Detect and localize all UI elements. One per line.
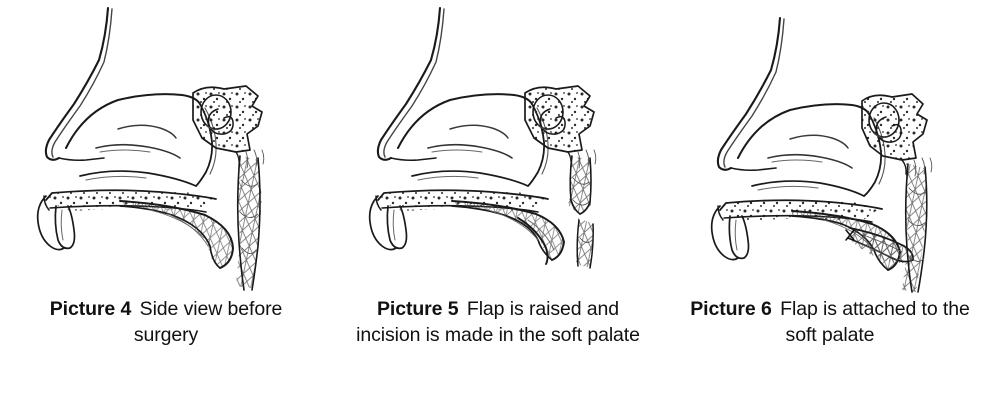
caption-text: Side view before surgery bbox=[134, 298, 282, 346]
caption-text: Flap is attached to the soft palate bbox=[780, 298, 970, 346]
figure-panel-picture-5: Picture 5Flap is raised and incision is … bbox=[332, 0, 664, 406]
panel-caption: Picture 6Flap is attached to the soft pa… bbox=[680, 296, 980, 348]
caption-lead: Picture 4 bbox=[50, 298, 140, 320]
panel-caption: Picture 5Flap is raised and incision is … bbox=[348, 296, 648, 348]
figure-panel-picture-6: Picture 6Flap is attached to the soft pa… bbox=[664, 0, 996, 406]
figure-panel-picture-4: Picture 4Side view before surgery bbox=[0, 0, 332, 406]
figure-series: Picture 4Side view before surgery bbox=[0, 0, 996, 406]
sagittal-section-before-surgery-illustration bbox=[0, 0, 332, 296]
caption-lead: Picture 6 bbox=[690, 298, 780, 320]
sagittal-section-flap-raised-illustration bbox=[332, 0, 664, 296]
sagittal-section-flap-attached-illustration bbox=[664, 0, 996, 296]
panel-caption: Picture 4Side view before surgery bbox=[16, 296, 316, 348]
caption-lead: Picture 5 bbox=[377, 298, 467, 320]
